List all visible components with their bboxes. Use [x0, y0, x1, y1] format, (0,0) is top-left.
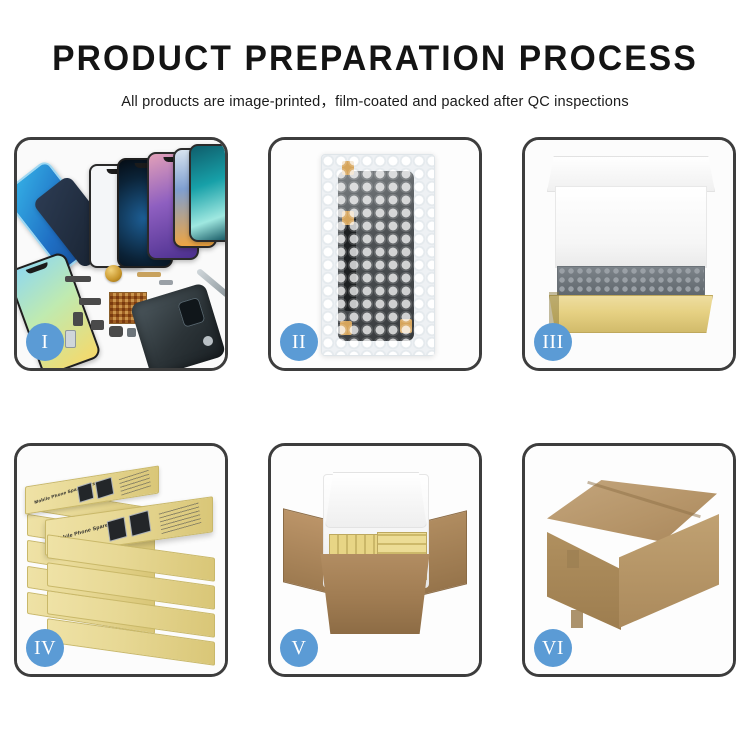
small-clip-part: [159, 280, 173, 285]
process-step-4[interactable]: Mobile Phone Spare Parts Mobile Phone Sp…: [14, 443, 228, 677]
process-step-2[interactable]: II: [268, 137, 482, 371]
connector-strip-part: [65, 276, 91, 282]
carton-body: [313, 554, 437, 634]
bubble-wrap-sleeve: [321, 154, 435, 356]
step-badge-2: II: [280, 323, 318, 361]
sim-tray-part: [127, 328, 136, 337]
retail-box-spec-lines-a: [119, 470, 151, 496]
wrapped-flex-cable: [344, 215, 356, 311]
tape-piece-mid: [342, 211, 354, 225]
phone-teal-display: [189, 144, 225, 242]
retail-box-chip-b1: [107, 516, 128, 541]
foam-box-lid: [325, 472, 427, 528]
process-step-grid: I II III: [14, 137, 736, 677]
tape-piece-top: [342, 161, 354, 175]
tape-piece-bottom-left: [340, 321, 352, 335]
button-flex-part: [73, 312, 83, 326]
process-step-1[interactable]: I: [14, 137, 228, 371]
camera-module-part: [109, 326, 123, 337]
tape-piece-bottom-right: [400, 319, 412, 333]
step-badge-4: IV: [26, 629, 64, 667]
process-step-3[interactable]: III: [522, 137, 736, 371]
retail-box-spec-lines-b: [159, 502, 202, 534]
step-badge-5: V: [280, 629, 318, 667]
page-header: PRODUCT PREPARATION PROCESS All products…: [0, 0, 750, 111]
speaker-part: [91, 320, 104, 330]
retail-box-chip-a2: [95, 477, 115, 500]
vibration-motor-part: [105, 265, 122, 282]
screw-part: [203, 336, 213, 346]
step-badge-1: I: [26, 323, 64, 361]
bracket-part: [137, 272, 161, 277]
carton-tape-lower: [571, 610, 583, 628]
process-step-5[interactable]: V: [268, 443, 482, 677]
step-badge-6: VI: [534, 629, 572, 667]
retail-box-chip-a1: [77, 482, 94, 503]
carton-tape-upper: [567, 550, 579, 568]
step-badge-3: III: [534, 323, 572, 361]
page-subtitle: All products are image-printed，film-coat…: [0, 90, 750, 111]
grey-protective-sheet: [557, 266, 705, 298]
flex-cable-part: [79, 298, 101, 305]
sim-card-part: [65, 330, 76, 348]
kraft-box-front-panel: [549, 295, 713, 333]
page-title: PRODUCT PREPARATION PROCESS: [15, 40, 735, 79]
retail-box-chip-b2: [129, 510, 152, 537]
white-foam-padding: [555, 186, 707, 268]
process-step-6[interactable]: VI: [522, 443, 736, 677]
